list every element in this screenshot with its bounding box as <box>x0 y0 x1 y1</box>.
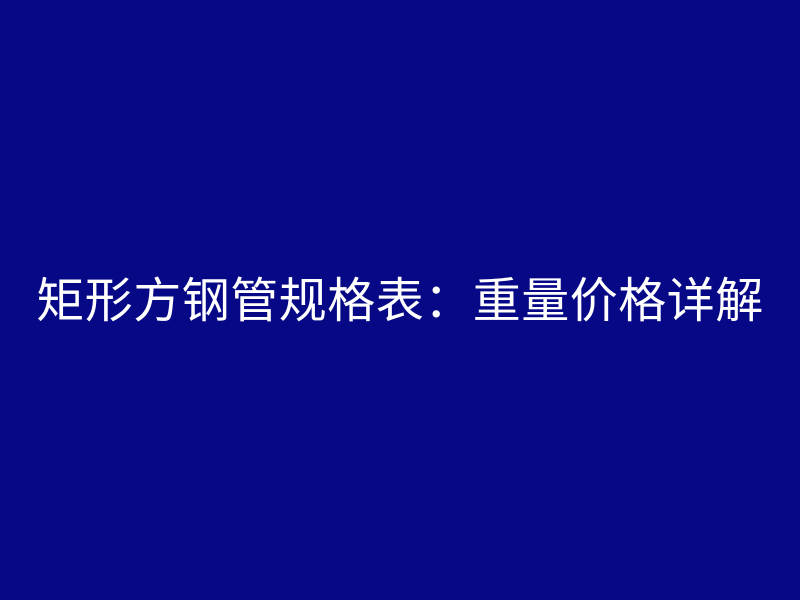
title-banner: 矩形方钢管规格表：重量价格详解 <box>0 0 800 600</box>
title-container: 矩形方钢管规格表：重量价格详解 <box>0 0 800 600</box>
page-title: 矩形方钢管规格表：重量价格详解 <box>36 277 764 325</box>
